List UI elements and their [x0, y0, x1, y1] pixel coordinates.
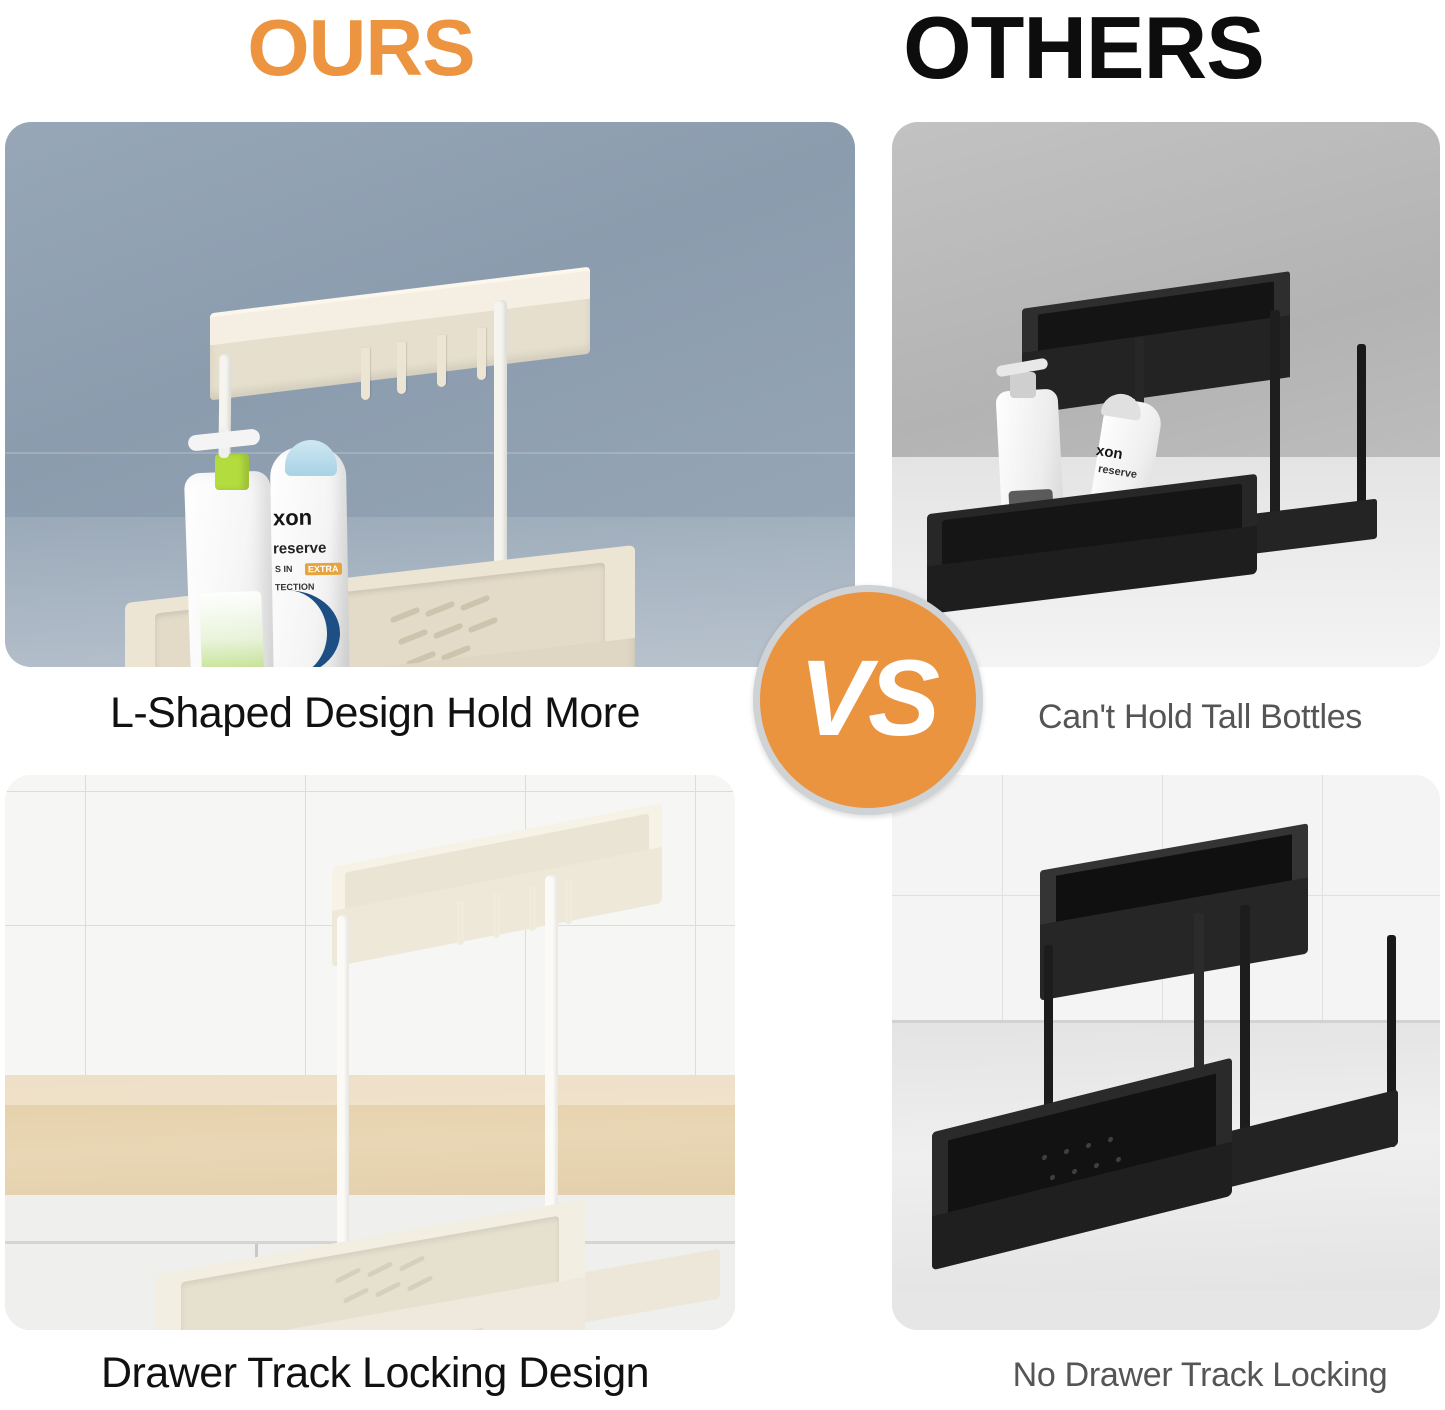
headings-row: OURS OTHERS	[0, 0, 1445, 112]
rack-post	[1357, 344, 1366, 522]
caption-others-top: Can't Hold Tall Bottles	[980, 700, 1420, 734]
rack-post	[1270, 310, 1280, 540]
scene-cream-rack-kitchen	[5, 775, 735, 1330]
counter-edge	[892, 1020, 1440, 1023]
panel-ours-top: xon reserve S IN EXTRA TECTION	[5, 122, 855, 667]
comparison-infographic: OURS OTHERS	[0, 0, 1445, 1410]
panel-ours-bottom	[5, 775, 735, 1330]
shelf-hook-icon	[457, 901, 464, 945]
shelf-hook-icon	[493, 894, 500, 938]
scene-cream-rack-studio: xon reserve S IN EXTRA TECTION	[5, 122, 855, 667]
vs-badge: VS	[753, 585, 983, 815]
rack-post-left	[337, 915, 349, 1275]
tile-grout-line	[5, 791, 735, 792]
caption-ours-top: L-Shaped Design Hold More	[5, 692, 745, 735]
pump-bottle-label	[199, 591, 265, 667]
caption-others-bottom: No Drawer Track Locking	[980, 1358, 1420, 1392]
shave-can-line: reserve	[273, 540, 327, 558]
cabinet-front	[892, 1290, 1440, 1330]
shelf-hook-icon	[529, 887, 536, 931]
shave-can-sub: S IN	[275, 564, 293, 574]
shelf-hook-icon	[565, 880, 572, 924]
horizon-line	[5, 452, 855, 454]
shave-can-brand: xon	[273, 505, 313, 532]
shelf-hook-icon	[477, 328, 486, 380]
panel-others-bottom	[892, 775, 1440, 1330]
shelf-hook-icon	[437, 335, 446, 387]
shave-can-cap	[285, 440, 337, 476]
vs-badge-label: VS	[799, 644, 937, 752]
shelf-hook-icon	[397, 342, 406, 394]
tile-grout-line	[525, 775, 526, 1105]
tile-grout-line	[1002, 775, 1003, 1035]
tile-grout-line	[695, 775, 696, 1105]
caption-ours-bottom: Drawer Track Locking Design	[5, 1352, 745, 1395]
heading-ours: OURS	[0, 0, 722, 104]
scene-black-rack-kitchen	[892, 775, 1440, 1330]
tile-grout-line	[305, 775, 306, 1105]
pump-bottle-cap	[1010, 372, 1036, 398]
panel-others-top: xon reserve	[892, 122, 1440, 667]
scene-black-rack-studio: xon reserve	[892, 122, 1440, 667]
pump-bottle-cap	[215, 454, 249, 490]
shave-can-badge: EXTRA	[305, 563, 342, 576]
shelf-hook-icon	[361, 348, 370, 400]
heading-others: OTHERS	[722, 0, 1445, 104]
tile-grout-line	[85, 775, 86, 1105]
shave-can-sub2: TECTION	[275, 582, 315, 593]
countertop-highlight	[5, 1075, 735, 1105]
tile-grout-line	[1322, 775, 1323, 1035]
